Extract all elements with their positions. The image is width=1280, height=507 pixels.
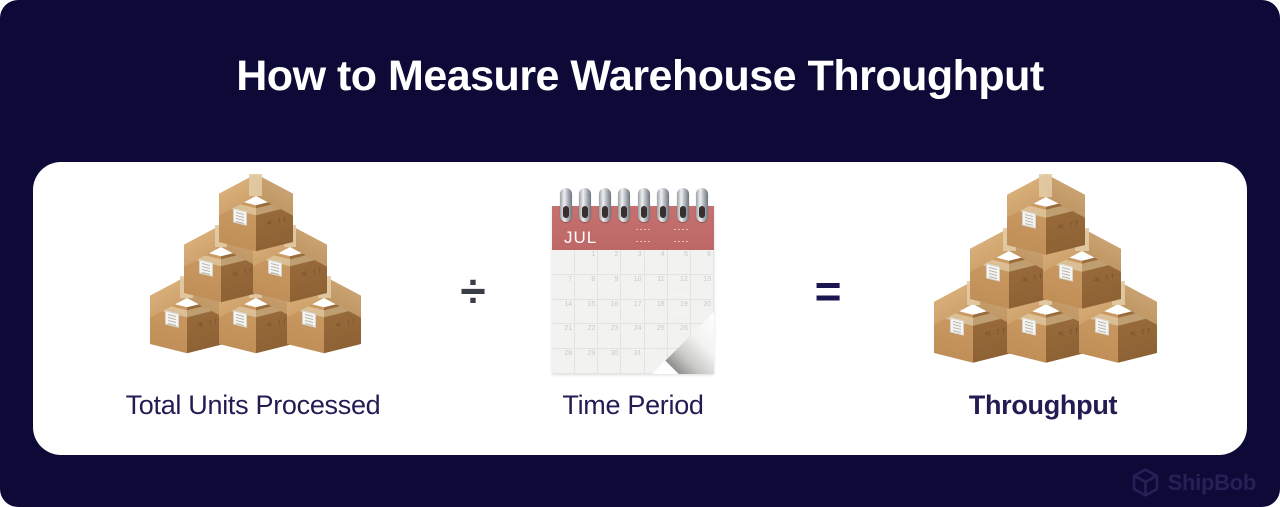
calendar-spiral-ring — [618, 188, 630, 222]
calendar-day-cell: 15 — [575, 300, 598, 325]
calendar-day-cell: 1 — [575, 250, 598, 275]
calendar-day-cell: 8 — [575, 275, 598, 300]
formula-term-total-units: ♃ ↑↑♃ ↑↑♃ ↑↑♃ ↑↑♃ ↑↑♃ ↑↑ Total Units Pro… — [53, 162, 453, 455]
calendar-day-cell: 25 — [645, 324, 668, 349]
shipbob-wordmark: ShipBob — [1168, 470, 1256, 496]
calendar-day-cell — [552, 250, 575, 275]
formula-term-label-throughput: Throughput — [853, 390, 1233, 421]
shipping-label — [165, 310, 179, 327]
division-operator: ÷ — [438, 268, 508, 314]
calendar-day-cell: 22 — [575, 324, 598, 349]
calendar-day-cell: 10 — [621, 275, 644, 300]
shipping-label — [233, 310, 247, 327]
calendar-day-cell: 3 — [621, 250, 644, 275]
formula-term-label-time-period: Time Period — [503, 390, 763, 421]
calendar-day-cell: 17 — [621, 300, 644, 325]
shipping-label — [199, 259, 213, 276]
calendar-day-cell: 29 — [575, 349, 598, 374]
shipbob-cube-icon — [1132, 468, 1159, 497]
calendar-day-cell: 30 — [598, 349, 621, 374]
calendar-spiral-ring — [560, 188, 572, 222]
formula-term-throughput: ♃ ↑↑♃ ↑↑♃ ↑↑♃ ↑↑♃ ↑↑♃ ↑↑ Throughput — [853, 162, 1233, 455]
calendar-day-cell: 11 — [645, 275, 668, 300]
calendar-day-cell: 28 — [552, 349, 575, 374]
calendar-day-cell: 9 — [598, 275, 621, 300]
calendar-day-cell: 7 — [552, 275, 575, 300]
calendar-spiral-ring — [638, 188, 650, 222]
calendar-day-cell: 4 — [645, 250, 668, 275]
stacked-boxes-icon: ♃ ↑↑♃ ↑↑♃ ↑↑♃ ↑↑♃ ↑↑♃ ↑↑ — [853, 174, 1233, 374]
stacked-boxes-icon: ♃ ↑↑♃ ↑↑♃ ↑↑♃ ↑↑♃ ↑↑♃ ↑↑ — [53, 174, 453, 374]
calendar-day-cell: 13 — [691, 275, 714, 300]
formula-term-label-total-units: Total Units Processed — [53, 390, 453, 421]
formula-card: ♃ ↑↑♃ ↑↑♃ ↑↑♃ ↑↑♃ ↑↑♃ ↑↑ Total Units Pro… — [33, 162, 1247, 455]
cardboard-box: ♃ ↑↑ — [219, 174, 293, 242]
calendar-month-label: JUL — [564, 228, 597, 248]
calendar-day-cell: 6 — [691, 250, 714, 275]
formula-term-time-period: JUL 123456789101112131415161718192021222… — [503, 162, 763, 455]
calendar-day-cell: 16 — [598, 300, 621, 325]
page-title: How to Measure Warehouse Throughput — [0, 52, 1280, 101]
calendar-day-cell: 23 — [598, 324, 621, 349]
calendar-day-cell: 18 — [645, 300, 668, 325]
shipping-label — [268, 259, 282, 276]
calendar-day-cell: 31 — [621, 349, 644, 374]
calendar-day-cell: 14 — [552, 300, 575, 325]
calendar-spiral-ring — [579, 188, 591, 222]
calendar-spiral-rings — [560, 188, 708, 222]
calendar-day-cell: 5 — [668, 250, 691, 275]
shipping-label — [1022, 210, 1036, 228]
calendar-icon: JUL 123456789101112131415161718192021222… — [503, 174, 763, 374]
calendar-header-ticks — [674, 229, 690, 241]
infographic-panel: How to Measure Warehouse Throughput ♃ ↑↑… — [0, 0, 1280, 507]
shipbob-logo: ShipBob — [1132, 468, 1256, 497]
calendar-day-cell: 21 — [552, 324, 575, 349]
calendar-header-ticks — [636, 229, 652, 241]
calendar-day-cell: 2 — [598, 250, 621, 275]
shipping-label — [233, 208, 247, 225]
shipping-label — [302, 310, 316, 327]
calendar-spiral-ring — [599, 188, 611, 222]
calendar-spiral-ring — [677, 188, 689, 222]
calendar-day-cell: 24 — [621, 324, 644, 349]
calendar-day-cell: 19 — [668, 300, 691, 325]
calendar-day-cell: 12 — [668, 275, 691, 300]
calendar-spiral-ring — [696, 188, 708, 222]
calendar-spiral-ring — [657, 188, 669, 222]
cardboard-box: ♃ ↑↑ — [1007, 174, 1085, 246]
